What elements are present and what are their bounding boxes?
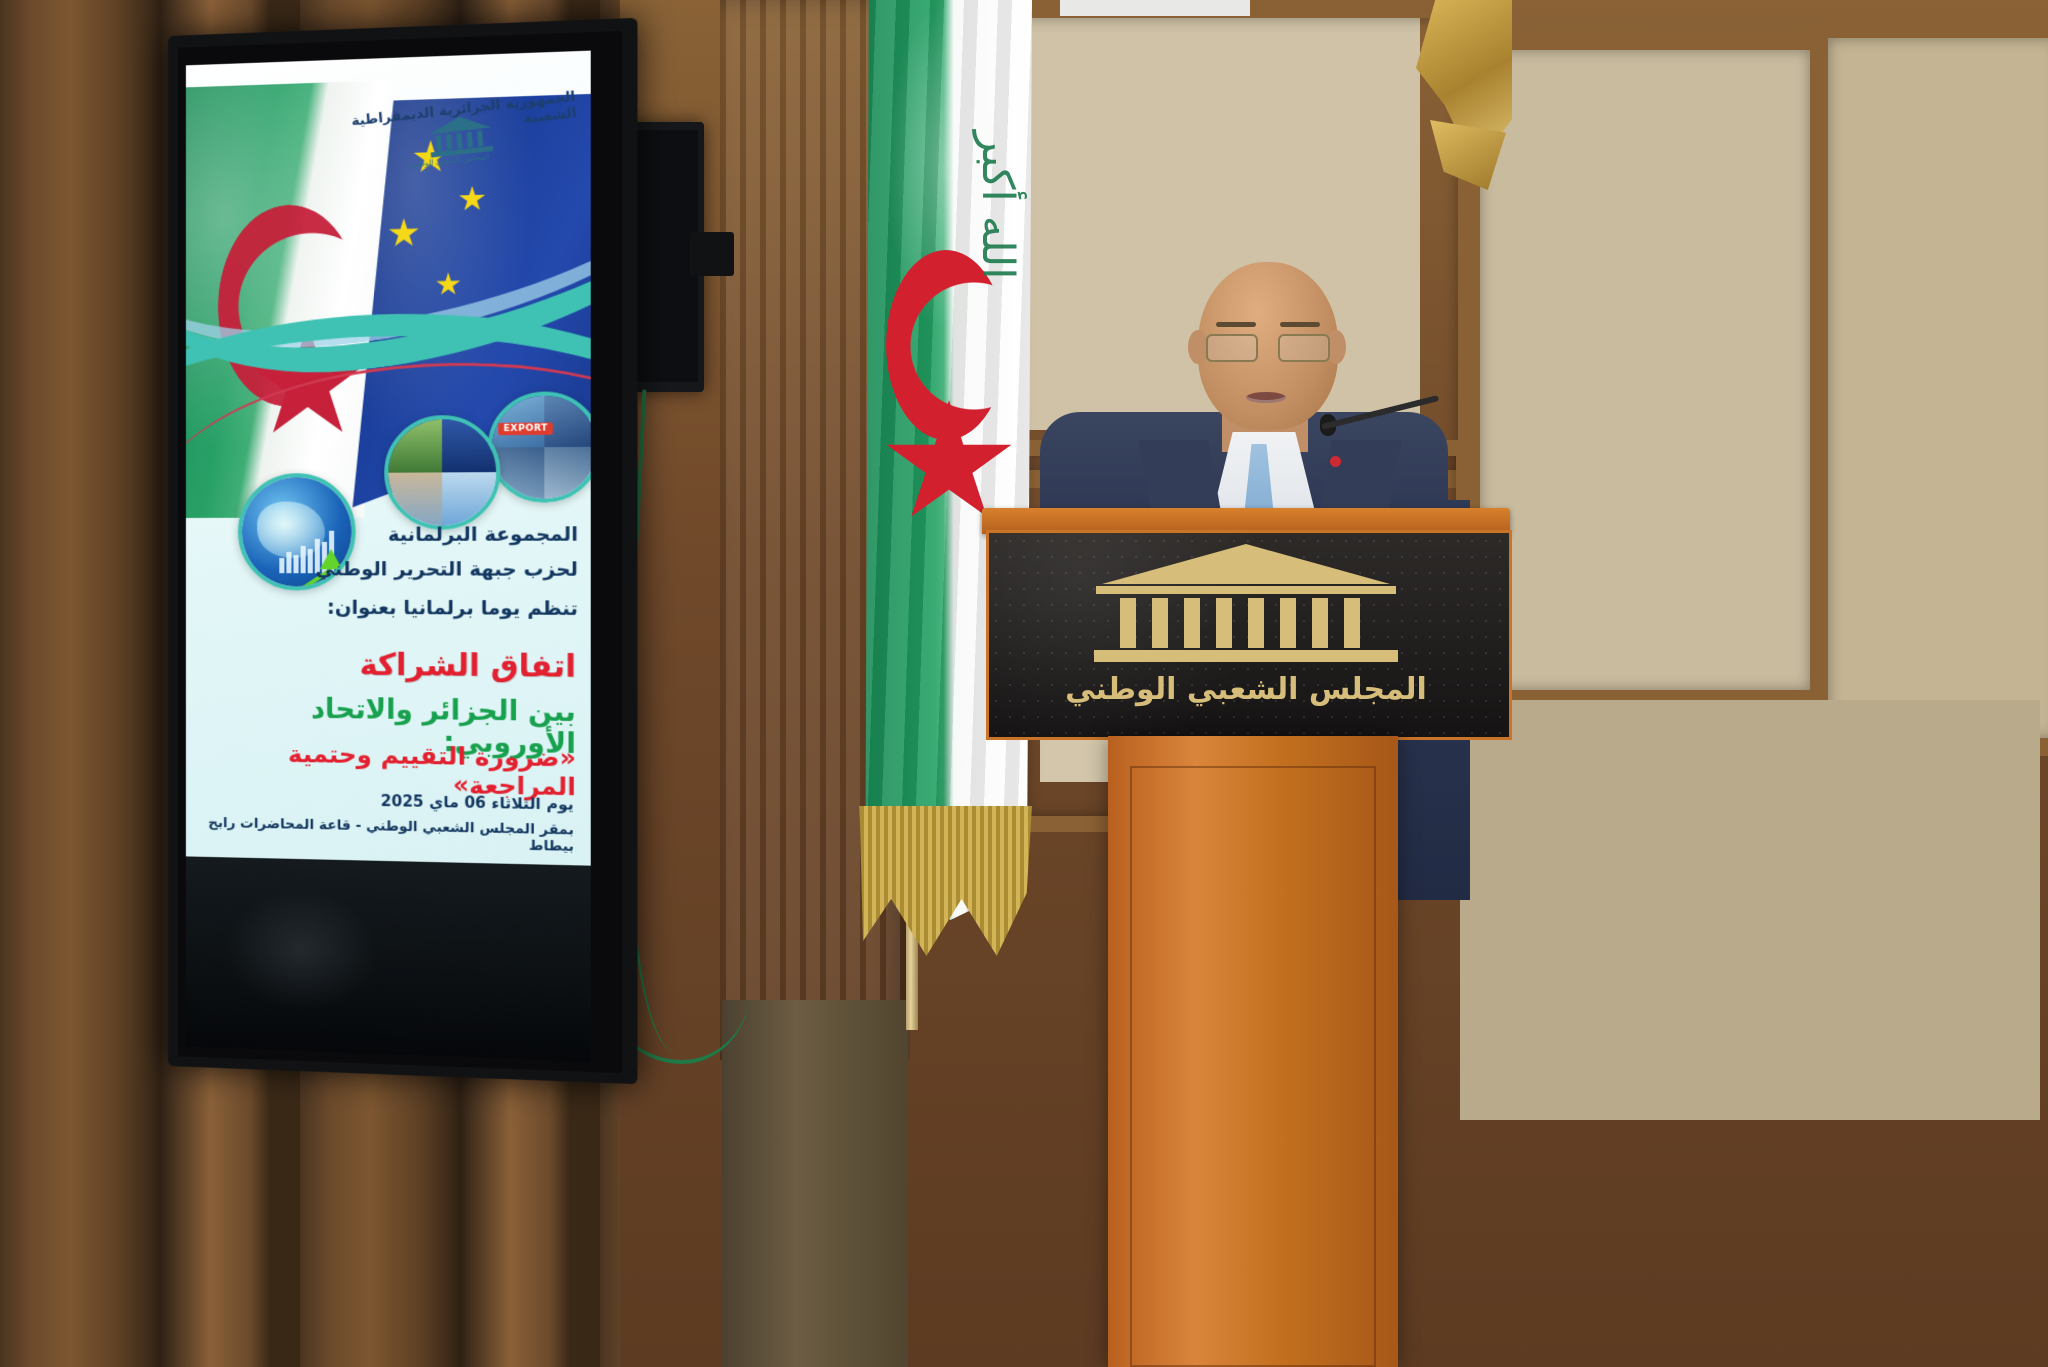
screen-lower-dark-area xyxy=(186,856,591,1061)
speaker-eyebrow-left xyxy=(1216,322,1256,327)
poster-org-line-3: تنظم يوما برلمانيا بعنوان: xyxy=(327,597,578,621)
wall-panel-lower-right xyxy=(1460,700,2040,1120)
poster-date-line: يوم الثلاثاء 06 ماي 2025 xyxy=(381,792,574,814)
speaker-mouth xyxy=(1246,392,1286,403)
monitor-mount-bracket xyxy=(690,232,734,276)
photo-scene: الجمهورية الجزائرية الديمقراطية الشعبية … xyxy=(0,0,2048,1367)
speaker-eyebrow-right xyxy=(1280,322,1320,327)
export-trade-circle: EXPORT xyxy=(488,391,591,503)
event-poster: الجمهورية الجزائرية الديمقراطية الشعبية … xyxy=(186,51,591,866)
agriculture-industry-circle xyxy=(384,415,500,530)
podium-caption: المجلس الشعبي الوطني xyxy=(986,672,1506,707)
eyeglasses-icon xyxy=(1206,334,1330,360)
speaker-ear-left xyxy=(1188,330,1208,364)
poster-place-line: بمقر المجلس الشعبي الوطني - قاعة المحاضر… xyxy=(186,814,574,855)
lapel-flag-pin-icon xyxy=(1330,456,1341,467)
poster-org-line-1: المجموعة البرلمانية xyxy=(388,523,578,546)
podium-assembly-emblem-icon xyxy=(1086,540,1406,670)
poster-org-line-2: لحزب جبهة التحرير الوطني xyxy=(315,558,578,581)
wall-frame-right xyxy=(1460,30,1830,710)
flag-arabic-script: الله أكبر xyxy=(930,90,1020,320)
podium-body xyxy=(1108,736,1398,1367)
stage-curtain-lower xyxy=(722,1000,908,1367)
wall-frame-far-right xyxy=(1810,20,2048,756)
ceiling-light-strip xyxy=(1060,0,1250,16)
export-badge: EXPORT xyxy=(498,422,553,435)
digital-signage-screen[interactable]: الجمهورية الجزائرية الديمقراطية الشعبية … xyxy=(168,18,637,1084)
poster-title-line-1: اتفاق الشراكة xyxy=(359,647,576,685)
